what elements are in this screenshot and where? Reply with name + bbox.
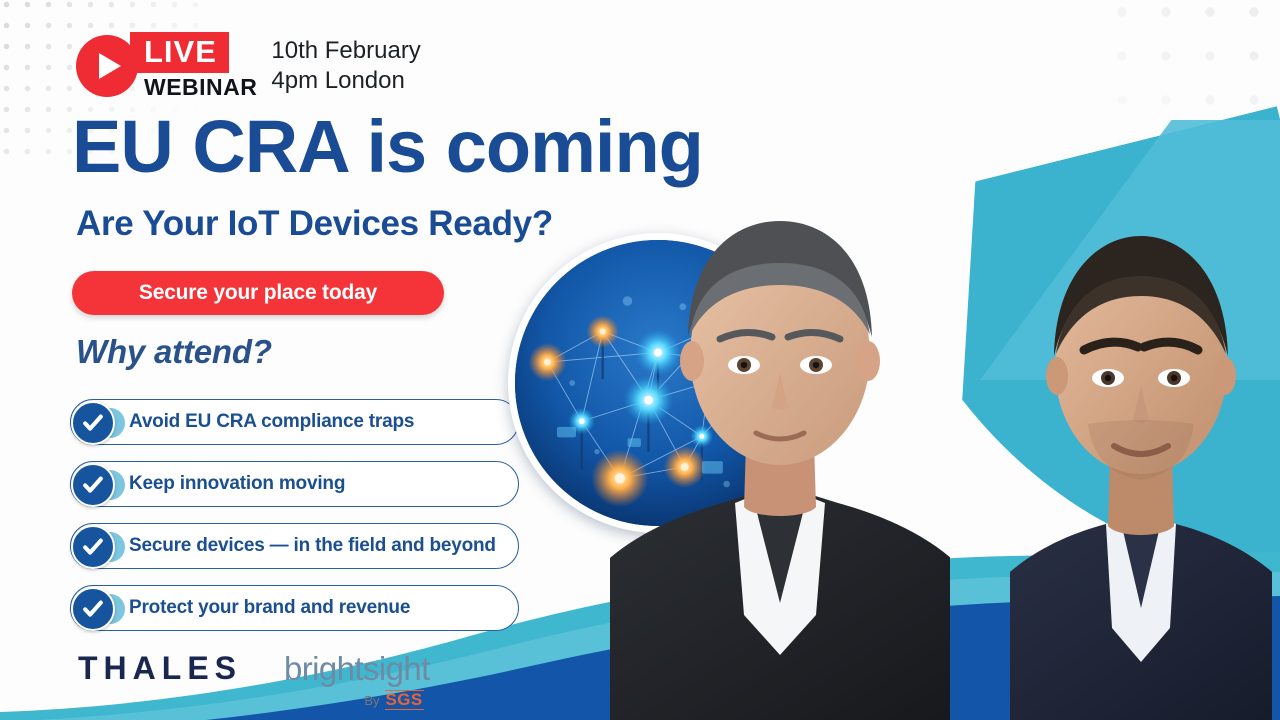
webinar-datetime: 10th February 4pm London — [271, 36, 420, 95]
webinar-date: 10th February — [271, 36, 420, 65]
list-item-label: Keep innovation moving — [129, 473, 345, 495]
brightsight-logo-text: brightsight — [284, 652, 430, 685]
why-attend-heading: Why attend? — [76, 333, 272, 371]
partner-logos: THALES brightsight By SGS — [78, 652, 430, 710]
play-icon — [76, 35, 138, 97]
page-title: EU CRA is coming — [72, 110, 703, 184]
list-item: Secure devices — in the field and beyond — [70, 523, 519, 569]
webinar-label: WEBINAR — [144, 76, 257, 99]
check-badge — [69, 523, 125, 571]
by-sgs-lockup: By SGS — [364, 690, 423, 710]
speaker-photo-right — [1010, 188, 1272, 720]
list-item-label: Avoid EU CRA compliance traps — [129, 411, 414, 433]
list-item: Avoid EU CRA compliance traps — [70, 399, 519, 445]
webinar-promo-banner: LIVE WEBINAR 10th February 4pm London EU… — [0, 0, 1280, 720]
brightsight-logo: brightsight By SGS — [284, 652, 430, 710]
list-item-label: Protect your brand and revenue — [129, 597, 410, 619]
list-item: Protect your brand and revenue — [70, 585, 519, 631]
by-label: By — [364, 693, 379, 708]
thales-logo-text: THALES — [78, 652, 242, 684]
benefit-list: Avoid EU CRA compliance traps Keep innov… — [70, 399, 519, 631]
thales-logo: THALES — [78, 652, 242, 684]
check-icon — [71, 587, 115, 631]
speaker-photo-left — [610, 185, 950, 720]
sgs-logo-text: SGS — [385, 690, 424, 710]
secure-place-button-label: Secure your place today — [139, 281, 377, 305]
check-badge — [69, 585, 125, 633]
live-label: LIVE — [130, 32, 229, 73]
live-webinar-wordmark: LIVE WEBINAR — [130, 32, 257, 99]
live-webinar-badge: LIVE WEBINAR 10th February 4pm London — [76, 32, 421, 99]
webinar-time: 4pm London — [271, 66, 420, 95]
check-icon — [71, 525, 115, 569]
secure-place-button[interactable]: Secure your place today — [72, 271, 444, 315]
check-badge — [69, 461, 125, 509]
check-badge — [69, 399, 125, 447]
check-icon — [71, 463, 115, 507]
check-icon — [71, 401, 115, 445]
list-item: Keep innovation moving — [70, 461, 519, 507]
list-item-label: Secure devices — in the field and beyond — [129, 535, 496, 557]
page-subtitle: Are Your IoT Devices Ready? — [76, 206, 553, 241]
